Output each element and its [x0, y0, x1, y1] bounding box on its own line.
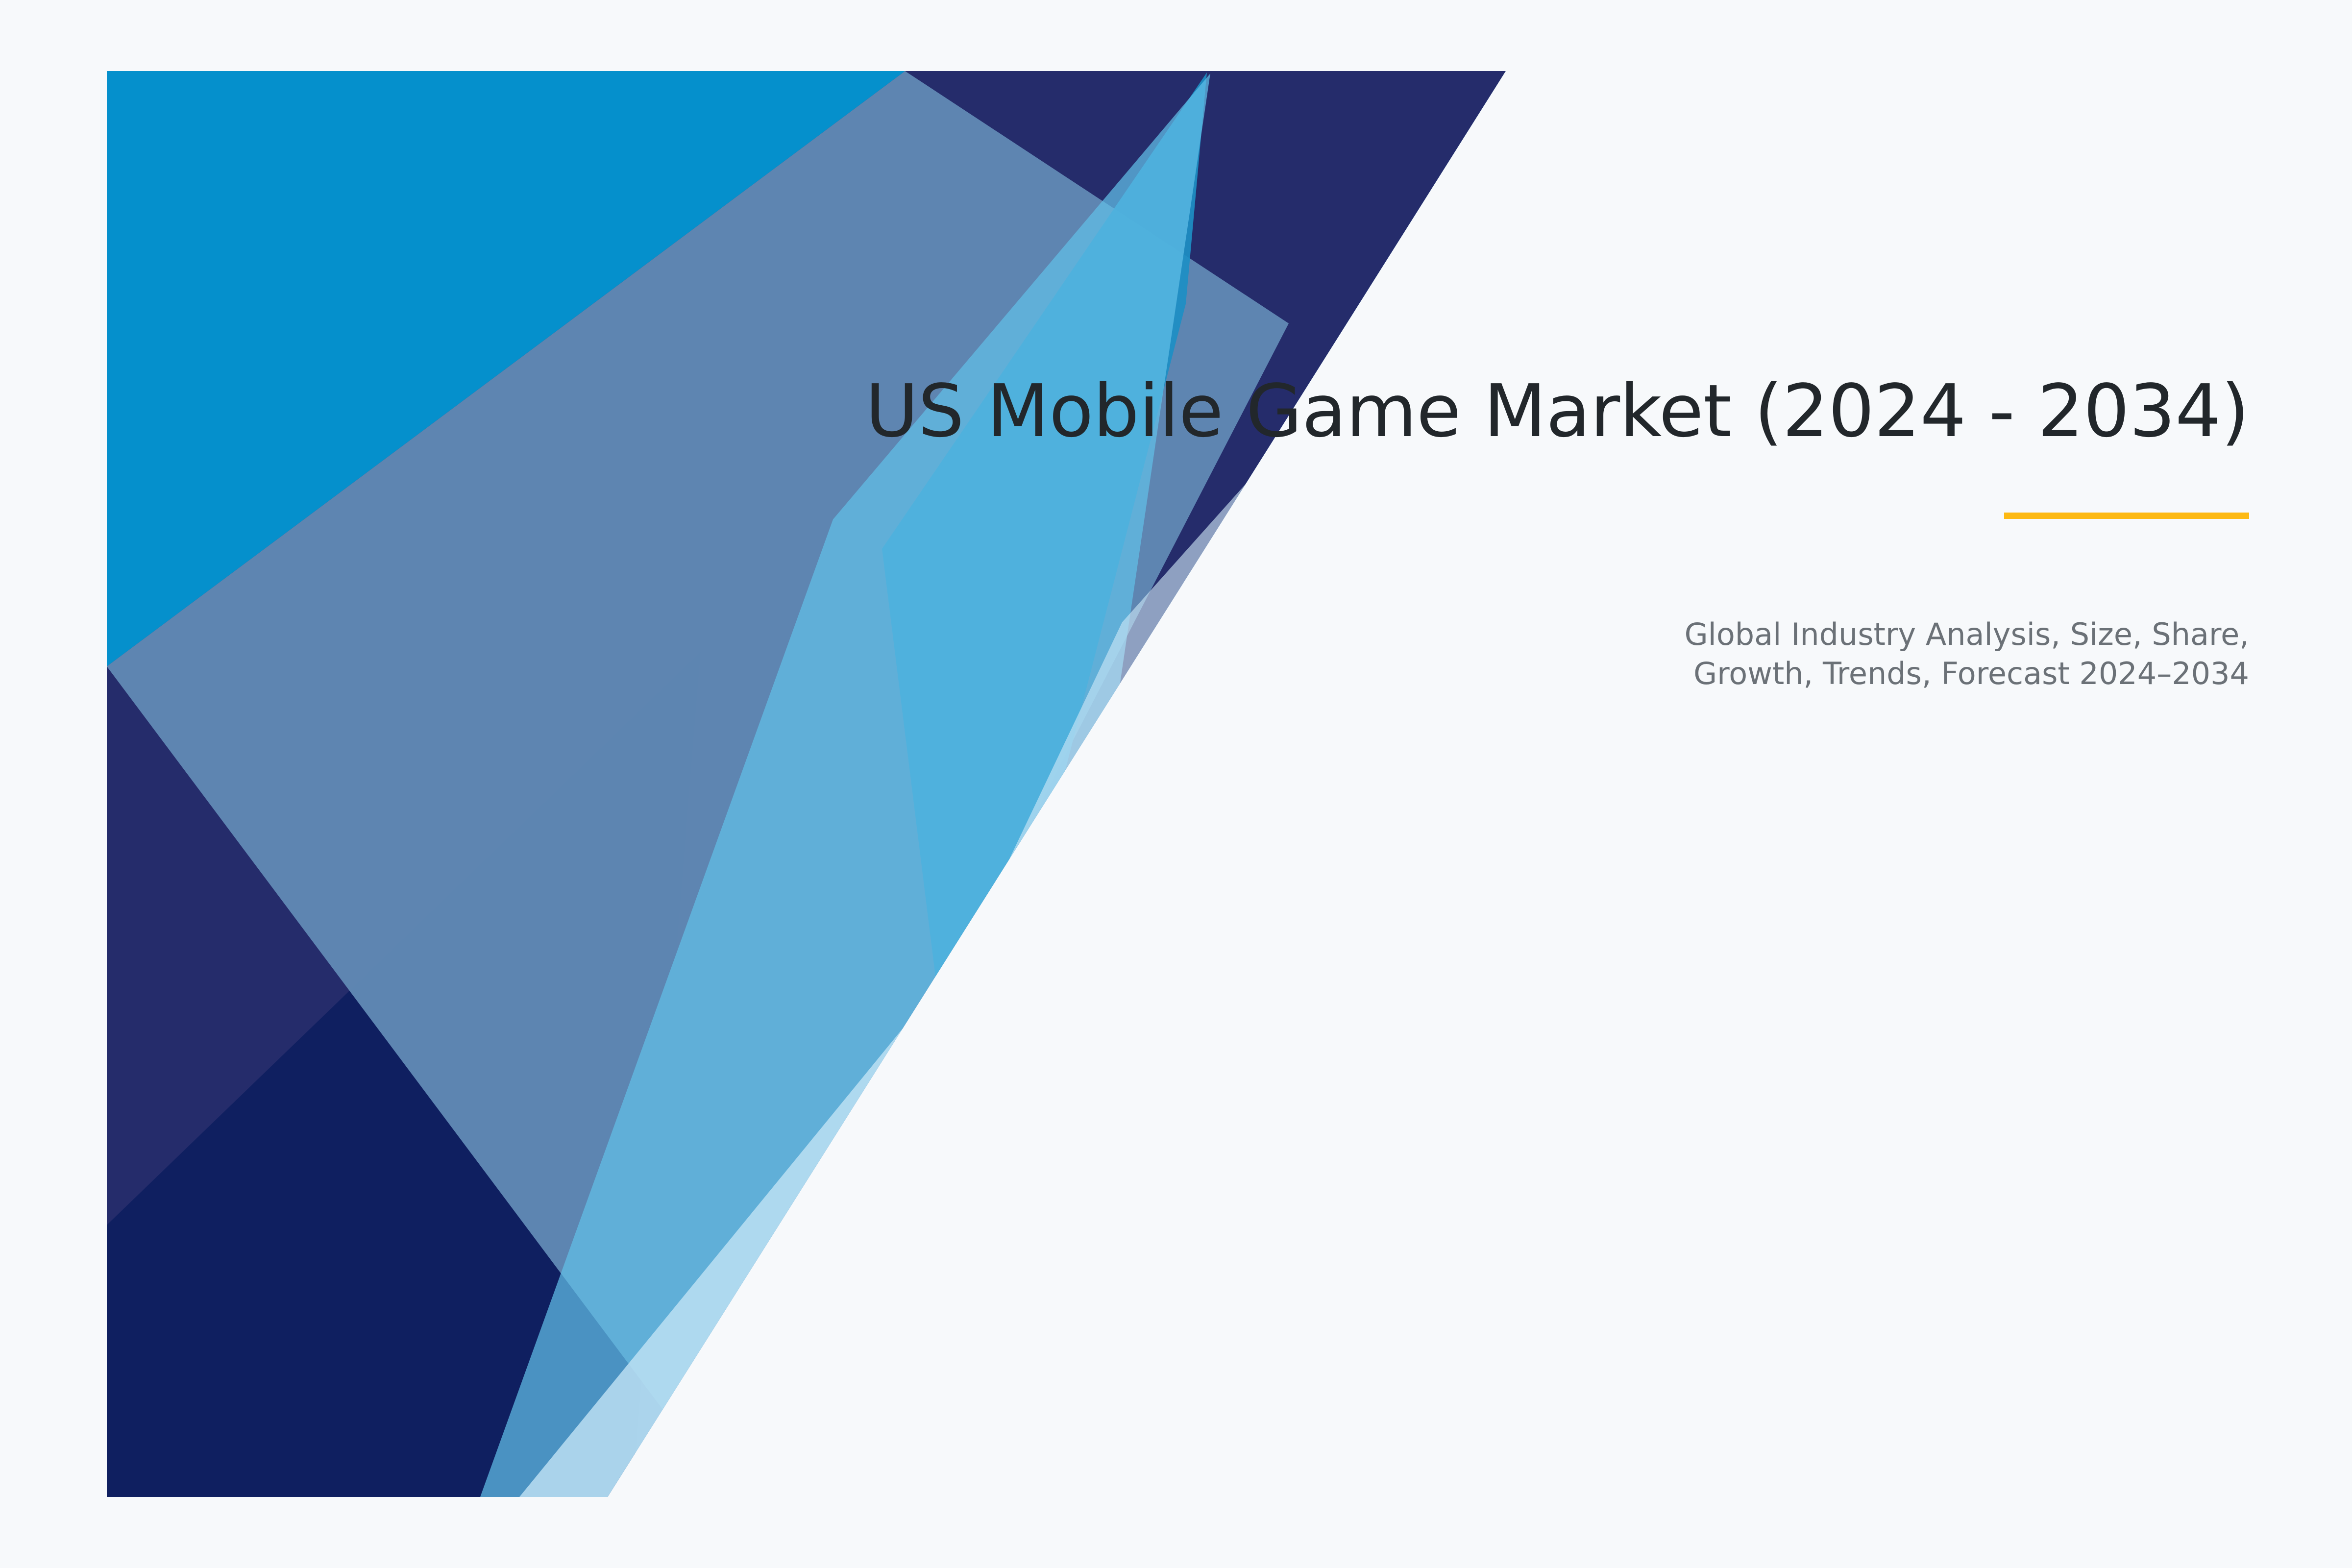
page-title: US Mobile Game Market (2024 - 2034) — [539, 372, 2249, 451]
page-subtitle: Global Industry Analysis, Size, Share, G… — [539, 615, 2249, 694]
accent-rule-container — [539, 513, 2249, 519]
accent-rule — [2004, 513, 2249, 519]
cover-text-block: US Mobile Game Market (2024 - 2034) Glob… — [539, 372, 2249, 694]
decorative-geometric-artwork — [0, 0, 2352, 1568]
cover-slide: US Mobile Game Market (2024 - 2034) Glob… — [0, 0, 2352, 1568]
